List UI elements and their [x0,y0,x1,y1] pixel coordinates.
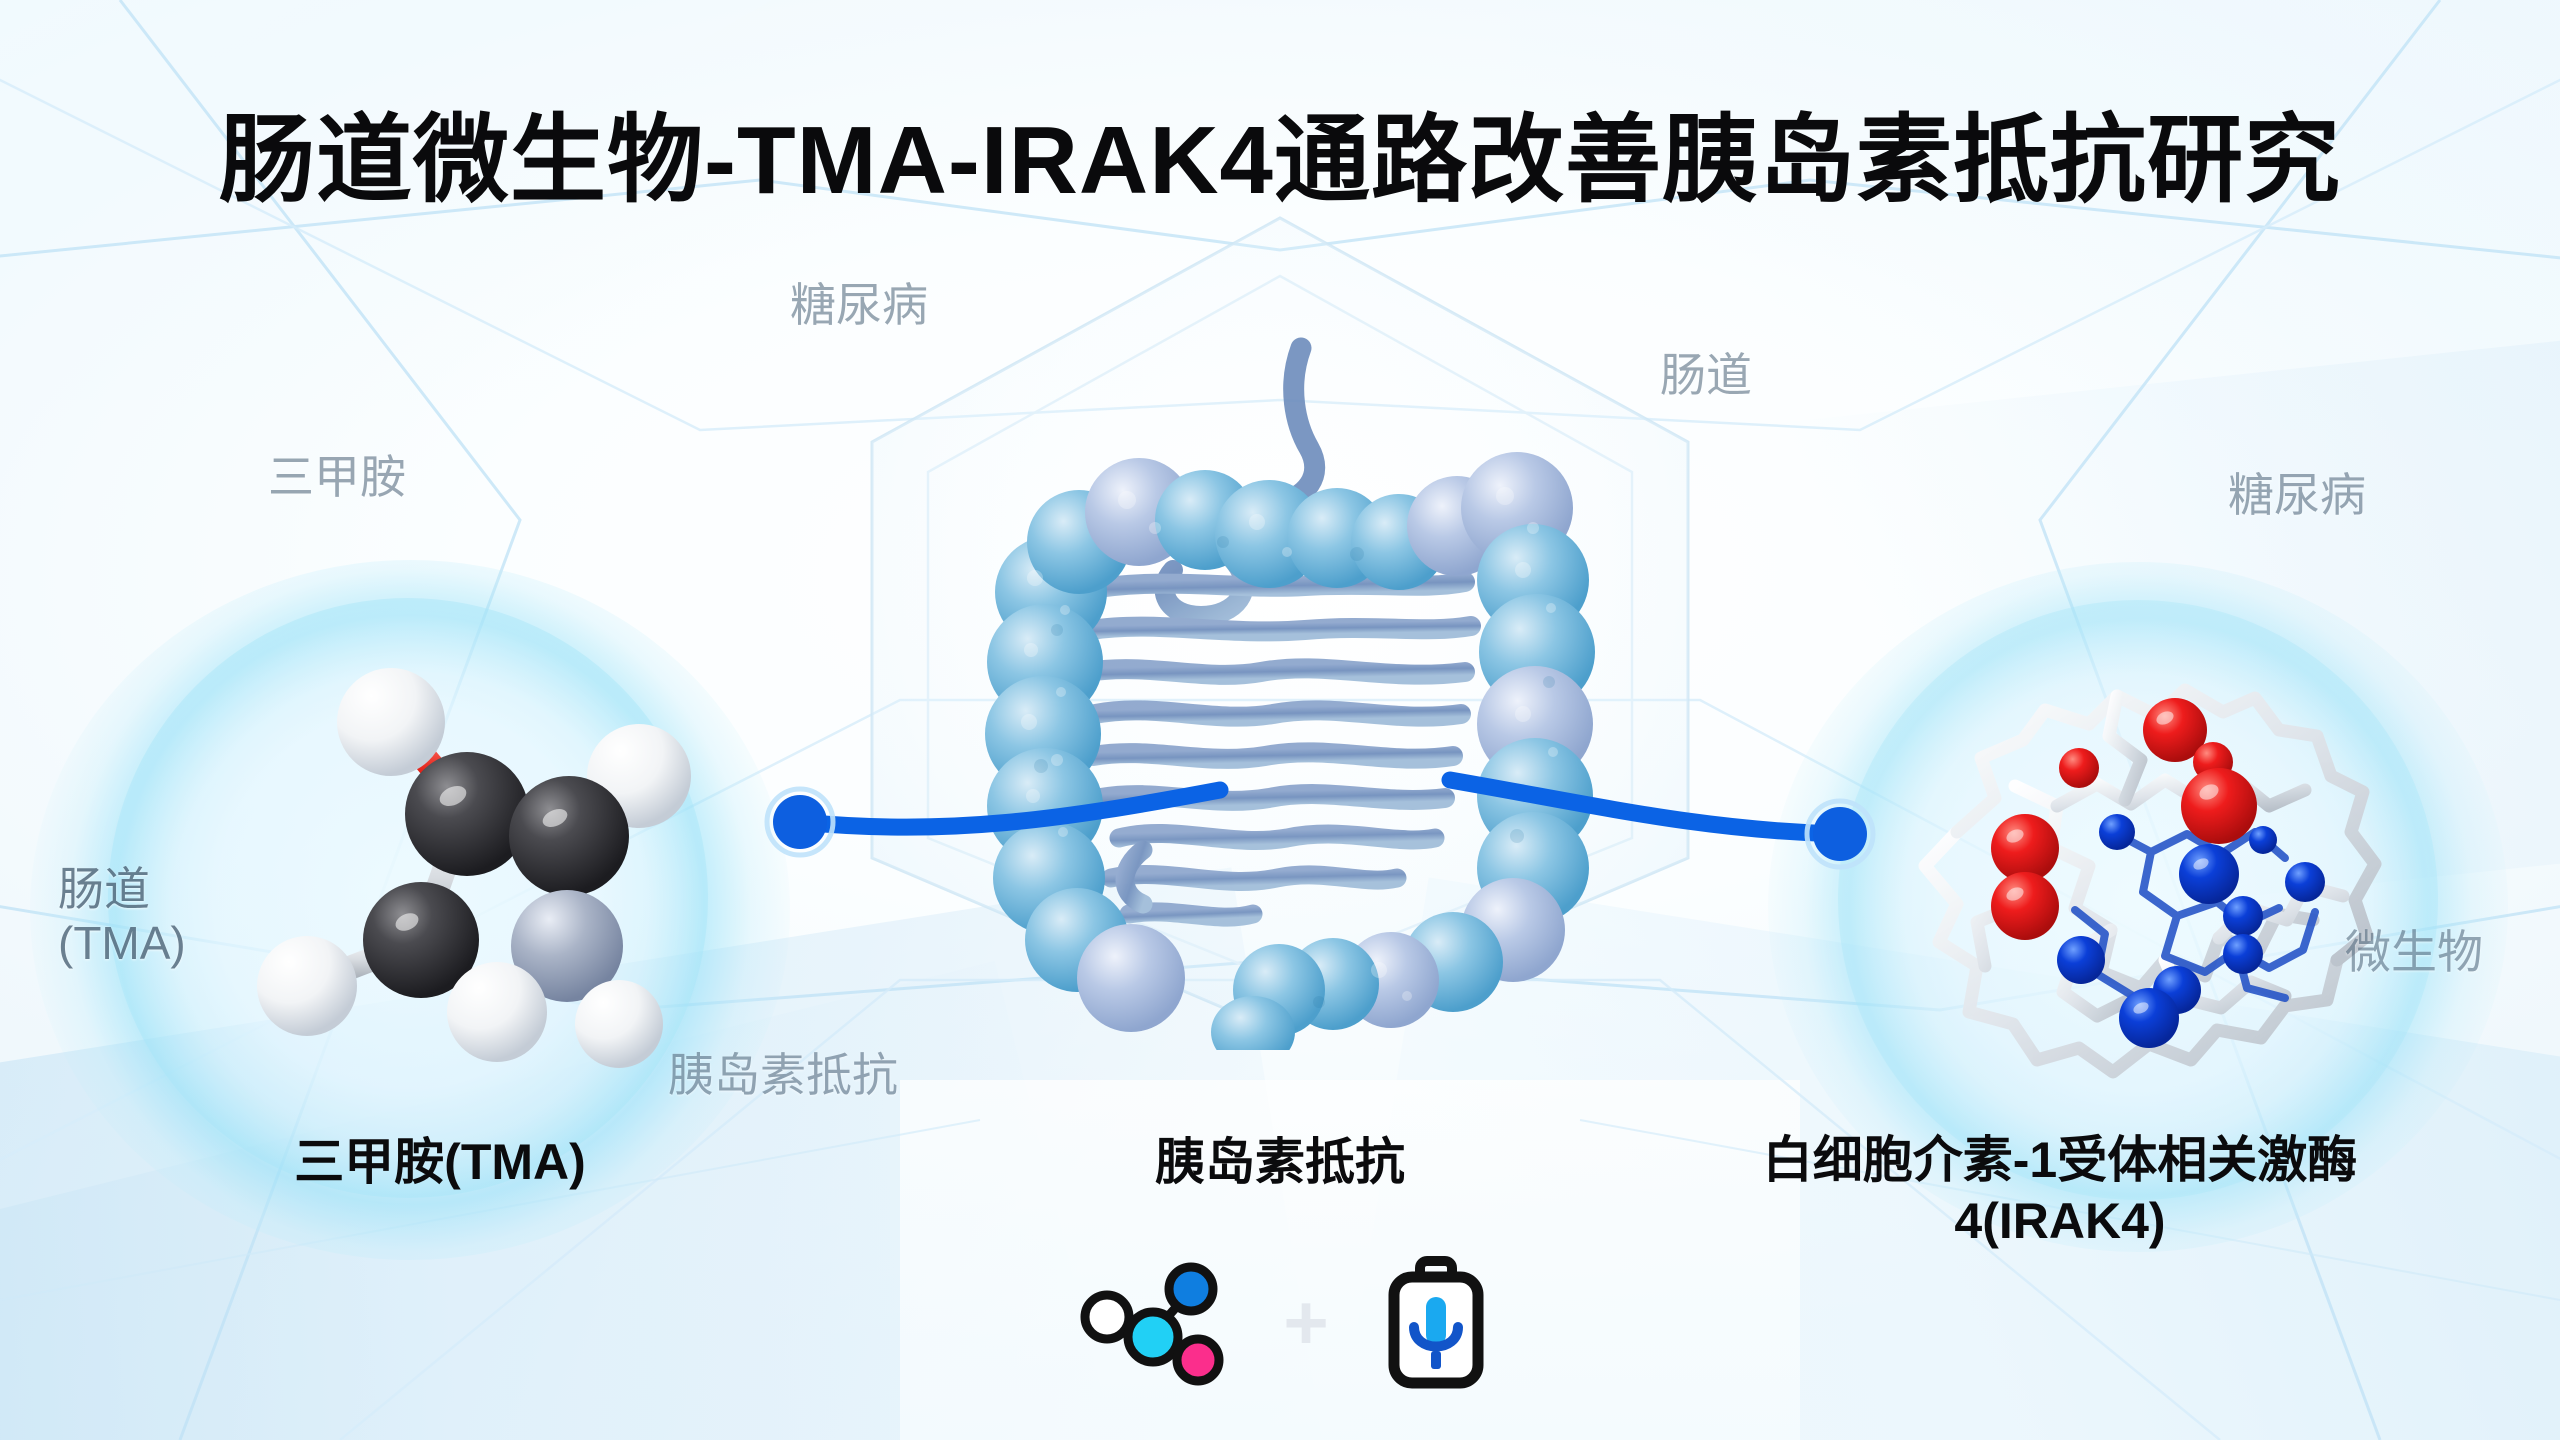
connector-left [800,790,1220,827]
caption-right-panel: 白细胞介素-1受体相关激酶4(IRAK4) [1690,1130,2430,1252]
watermark-diabetes-right: 糖尿病 [2228,468,2366,522]
molecule-icon [1079,1259,1231,1392]
poster-canvas: 肠道微生物-TMA-IRAK4通路改善胰岛素抵抗研究 [0,0,2560,1440]
watermark-microbiota: 微生物 [2345,925,2483,979]
watermark-diabetes-left: 糖尿病 [790,278,928,332]
plus-icon: + [1283,1283,1329,1361]
microphone-device-icon [1381,1255,1491,1396]
caption-center-panel: 胰岛素抵抗 [1000,1132,1560,1193]
watermark-insulin-resistance: 胰岛素抵抗 [668,1048,898,1102]
bottom-icon-row: + [1035,1235,1535,1415]
watermark-gut-right: 肠道 [1660,348,1752,402]
connector-right [1450,780,1840,834]
connector-left-endpoint [773,795,827,849]
caption-left-panel: 三甲胺(TMA) [130,1132,750,1193]
watermark-trimethylamine: 三甲胺 [268,450,406,504]
watermark-gut-tma: 肠道 (TMA) [58,862,186,971]
connector-right-endpoint [1813,807,1867,861]
